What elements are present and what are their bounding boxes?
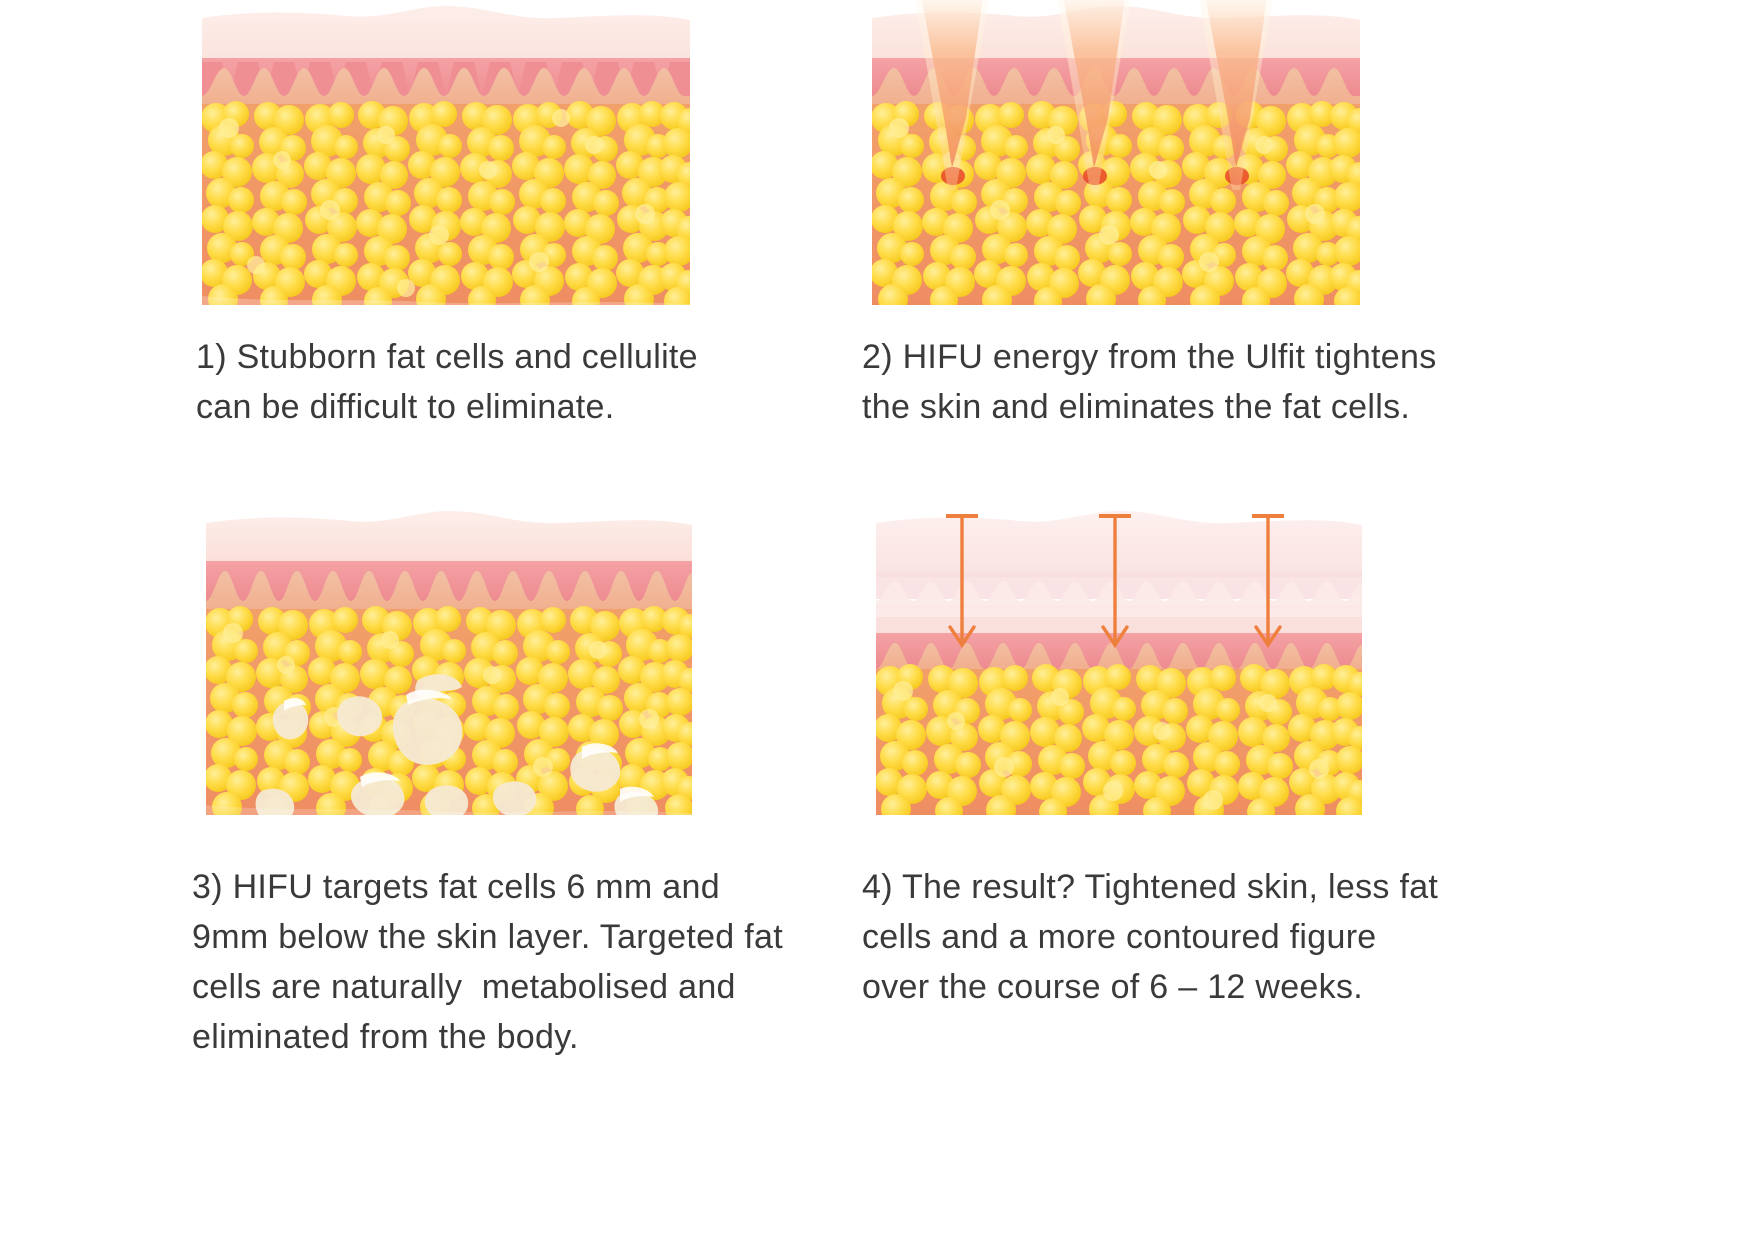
panel-2-illustration <box>866 0 1366 305</box>
panel-4-illustration <box>870 505 1368 815</box>
panel-1-illustration <box>196 0 696 305</box>
infographic-canvas: 1) Stubborn fat cells and cellulite can … <box>0 0 1747 1240</box>
panel-3-illustration <box>200 505 698 815</box>
panel-4-caption: 4) The result? Tightened skin, less fat … <box>862 862 1442 1012</box>
panel-2-caption: 2) HIFU energy from the Ulfit tightens t… <box>862 332 1442 432</box>
panel-3-caption: 3) HIFU targets fat cells 6 mm and 9mm b… <box>192 862 792 1062</box>
panel-1-caption: 1) Stubborn fat cells and cellulite can … <box>196 332 756 432</box>
previous-surface-ghost <box>876 511 1362 621</box>
